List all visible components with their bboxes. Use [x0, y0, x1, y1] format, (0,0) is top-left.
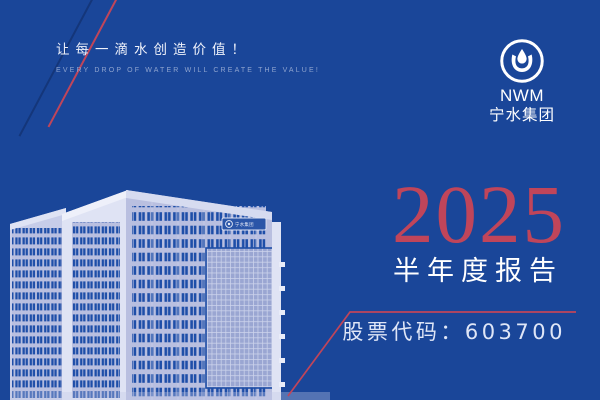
logo-abbreviation: NWM	[500, 87, 544, 104]
tagline-english: EVERY DROP OF WATER WILL CREATE THE VALU…	[56, 67, 320, 74]
report-cover: 宁水集团 让每一滴水创造价值！ EVERY DROP OF WATER WILL…	[0, 0, 600, 400]
report-title: 半年度报告	[392, 258, 566, 285]
svg-text:宁水集团: 宁水集团	[235, 221, 254, 228]
tagline-chinese: 让每一滴水创造价值！	[56, 44, 320, 58]
water-drop-emblem-icon	[499, 38, 545, 84]
title-block: 2025 半年度报告	[392, 176, 566, 285]
stock-code: 股票代码：603700	[342, 322, 566, 343]
office-building-illustration: 宁水集团	[0, 170, 330, 400]
report-year: 2025	[392, 176, 566, 252]
building-signboard: 宁水集团	[222, 218, 266, 230]
logo-company-name: 宁水集团	[489, 108, 555, 124]
tagline-block: 让每一滴水创造价值！ EVERY DROP OF WATER WILL CREA…	[56, 44, 320, 74]
company-logo: NWM 宁水集团	[480, 38, 564, 124]
